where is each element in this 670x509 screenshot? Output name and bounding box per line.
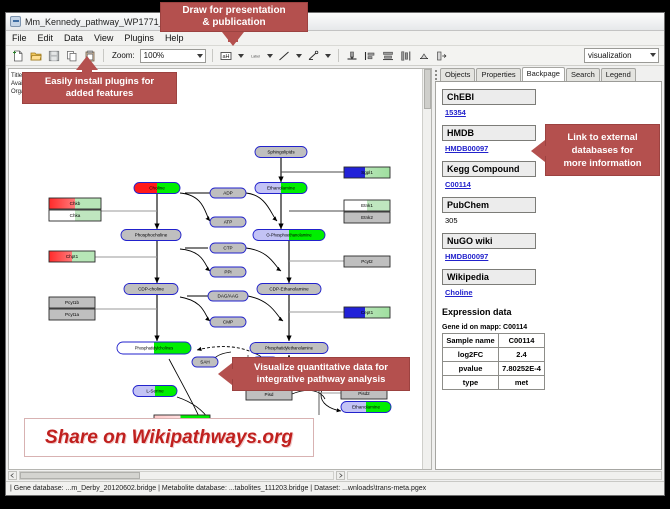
menu-item-plugins[interactable]: Plugins [123, 33, 155, 43]
callout-line: Visualize quantitative data for [254, 362, 388, 374]
callout-line: & publication [202, 17, 265, 29]
node-label: Cept1 [361, 310, 374, 315]
menu-bar: File Edit Data View Plugins Help [6, 31, 664, 46]
table-row: Sample name C00114 [443, 334, 545, 348]
gene-node-Chkb[interactable]: Chkb [49, 198, 101, 209]
data-node-icon[interactable]: aH [219, 48, 234, 63]
side-panel-tabs: Objects Properties Backpage Search Legen… [435, 68, 662, 82]
gene-node-Pcyt1a[interactable]: Pcyt1a [49, 309, 95, 320]
metabolite-node-CTP[interactable]: CTP [210, 243, 246, 253]
toolbar: Zoom: 100% aH Label [6, 46, 664, 66]
metabolite-node-Phosphocholine[interactable]: Phosphocholine [121, 230, 181, 241]
menu-item-file[interactable]: File [11, 33, 28, 43]
callout-external-links: Link to external databases for more info… [545, 124, 660, 176]
metabolite-node-DAG-AAG[interactable]: DAG/AAG [208, 291, 248, 301]
zoom-value: 100% [144, 51, 164, 60]
cell-key: Sample name [443, 334, 499, 348]
chevron-down-icon [650, 53, 656, 57]
cell-value: met [499, 376, 545, 390]
hscroll-left-button[interactable] [8, 471, 17, 480]
tab-drag-handle[interactable] [435, 69, 439, 81]
metabolite-node-Phosphatidylcholines[interactable]: Phosphatidylcholines [117, 342, 191, 354]
chevron-down-icon [325, 54, 331, 58]
node-label: CDP-Ethanolamine [269, 287, 309, 292]
toolbar-separator-2 [212, 49, 213, 62]
title-bar: Mm_Kennedy_pathway_WP1771_45176.gpml [6, 13, 664, 31]
pathway-canvas[interactable]: Title: Availa Organ [8, 68, 432, 470]
node-label: Pcyt2 [361, 259, 373, 264]
node-label: Sgpl1 [361, 170, 373, 175]
wikipedia-link[interactable]: Choline [445, 288, 473, 297]
node-label: Etnk2 [361, 215, 373, 220]
menu-item-data[interactable]: Data [63, 33, 84, 43]
menu-item-edit[interactable]: Edit [37, 33, 55, 43]
open-folder-icon[interactable] [28, 48, 43, 63]
line-icon[interactable] [277, 48, 292, 63]
pubchem-value: 305 [445, 216, 458, 225]
section-heading-chebi: ChEBI [442, 89, 536, 105]
gene-node-Etnk2[interactable]: Etnk2 [344, 212, 390, 223]
anchor-dropdown[interactable] [324, 49, 332, 62]
callout-draw-pointer-stem [228, 32, 238, 42]
gene-node-Chpt1[interactable]: Chpt1 [49, 251, 95, 262]
label-dropdown[interactable] [266, 49, 274, 62]
pathway-diagram[interactable]: SphingolipidsEthanolamineO-Phosphoethano… [9, 69, 432, 470]
stack-icon[interactable] [417, 48, 432, 63]
canvas-horizontal-scrollbar-row [6, 470, 664, 481]
callout-line: databases for [572, 144, 634, 157]
cell-key: type [443, 376, 499, 390]
label-icon[interactable]: Label [248, 48, 263, 63]
section-heading-pubchem: PubChem [442, 197, 536, 213]
node-label: Pcyt1a [65, 312, 79, 317]
save-icon[interactable] [46, 48, 61, 63]
toolbar-separator-3 [338, 49, 339, 62]
canvas-vscroll-thumb[interactable] [424, 69, 431, 109]
align-bottom-icon[interactable] [345, 48, 360, 63]
metabolite-node-CMP[interactable]: CMP [210, 317, 246, 327]
node-label: Choline [149, 186, 165, 191]
callout-share-wikipathways: Share on Wikipathways.org [24, 418, 314, 457]
gene-node-Pcyt2[interactable]: Pcyt2 [344, 256, 390, 267]
metabolite-node-Phosphatidylethanolamine[interactable]: Phosphatidylethanolamine [250, 343, 328, 354]
hscroll-track[interactable] [19, 471, 334, 480]
callout-draw-for-publication: Draw for presentation & publication [160, 2, 308, 32]
callout-line: integrative pathway analysis [257, 374, 386, 386]
node-label: Phosphatidylethanolamine [265, 346, 314, 351]
zoom-combo[interactable]: 100% [140, 49, 206, 63]
cell-key: log2FC [443, 348, 499, 362]
hscroll-right-button[interactable] [336, 471, 345, 480]
node-label: Chkb [70, 201, 81, 206]
node-label: ADP [223, 191, 232, 196]
chevron-down-icon [267, 54, 273, 58]
visualization-combo[interactable]: visualization [584, 48, 659, 63]
section-heading-wikipedia: Wikipedia [442, 269, 536, 285]
table-row: type met [443, 376, 545, 390]
distribute-vertical-icon[interactable] [381, 48, 396, 63]
expression-data-title: Expression data [442, 307, 661, 317]
gene-node-Etnk1[interactable]: Etnk1 [344, 200, 390, 211]
node-label: Ethanolamine [267, 186, 296, 191]
cell-value: 2.4 [499, 348, 545, 362]
gene-node-Sgpl1[interactable]: Sgpl1 [344, 167, 390, 178]
status-bar: | Gene database: ...m_Derby_20120602.bri… [6, 481, 664, 495]
cell-value: C00114 [499, 334, 545, 348]
section-heading-kegg: Kegg Compound [442, 161, 536, 177]
canvas-vertical-scrollbar[interactable] [422, 69, 431, 469]
cell-key: pvalue [443, 362, 499, 376]
callout-line: Easily install plugins for [45, 76, 154, 88]
zoom-label: Zoom: [112, 51, 135, 60]
callout-line: Draw for presentation [182, 5, 285, 17]
metabolite-node-Choline-top[interactable]: Choline [134, 183, 180, 194]
node-label: Chka [70, 213, 81, 218]
side-panel-hscroll-track[interactable] [347, 471, 662, 480]
node-label: PPi [224, 270, 231, 275]
callout-visualize-pointer-stem [226, 369, 236, 379]
callout-links-pointer-stem [539, 146, 549, 156]
cell-value: 7.80252E-4 [499, 362, 545, 376]
node-label: L-Serine [146, 389, 164, 394]
svg-text:Label: Label [251, 54, 260, 58]
node-label: DAG/AAG [218, 294, 239, 299]
chevron-down-icon [197, 54, 203, 58]
table-row: log2FC 2.4 [443, 348, 545, 362]
hmdb-link[interactable]: HMDB00097 [445, 144, 488, 153]
tab-objects[interactable]: Objects [440, 68, 475, 81]
metabolite-node-L-Serine-left[interactable]: L-Serine [133, 386, 177, 397]
gene-id-line: Gene id on mapp: C00114 [442, 324, 661, 331]
metabolite-node-Ethanolamine[interactable]: Ethanolamine [255, 183, 307, 194]
svg-text:aH: aH [223, 54, 230, 60]
tab-search[interactable]: Search [566, 68, 600, 81]
toolbar-separator-1 [103, 49, 104, 62]
share-text: Share on Wikipathways.org [45, 427, 293, 449]
metabolite-node-O-Phosphoethanolamine[interactable]: O-Phosphoethanolamine [253, 230, 325, 241]
node-label: Sphingolipids [267, 150, 295, 155]
metabolite-node-Ethanolamine-lower[interactable]: Ethanolamine [341, 402, 391, 413]
node-label: Phosphatidylcholines [135, 346, 173, 351]
tab-properties[interactable]: Properties [476, 68, 520, 81]
callout-visualize-data: Visualize quantitative data for integrat… [232, 357, 410, 391]
nugo-link[interactable]: HMDB00097 [445, 252, 488, 261]
app-icon [10, 16, 21, 27]
section-heading-nugo: NuGO wiki [442, 233, 536, 249]
node-label: SAH [200, 360, 209, 365]
gene-node-Cept1[interactable]: Cept1 [344, 307, 390, 318]
section-heading-hmdb: HMDB [442, 125, 536, 141]
new-file-icon[interactable] [10, 48, 25, 63]
callout-line: Link to external [567, 131, 637, 144]
distribute-horizontal-icon[interactable] [399, 48, 414, 63]
expression-table: Sample name C00114 log2FC 2.4 pvalue 7.8… [442, 333, 545, 390]
node-label: CTP [223, 246, 232, 251]
metabolite-node-PPi[interactable]: PPi [210, 267, 246, 277]
align-left-icon[interactable] [363, 48, 378, 63]
chevron-down-icon [238, 54, 244, 58]
data-node-dropdown[interactable] [237, 49, 245, 62]
visualization-combo-wrapper: visualization [584, 48, 659, 63]
node-label: Etnk1 [361, 203, 373, 208]
node-label: Pcyt1b [65, 300, 79, 305]
node-label: Phosphocholine [135, 233, 168, 238]
tab-legend[interactable]: Legend [601, 68, 636, 81]
node-label: CMP [223, 320, 233, 325]
metabolite-node-Sphingolipids[interactable]: Sphingolipids [255, 147, 307, 158]
node-label: CDP-choline [138, 287, 164, 292]
order-icon[interactable] [435, 48, 450, 63]
callout-line: more information [563, 157, 641, 170]
visualization-value: visualization [588, 51, 632, 60]
node-label: Chpt1 [66, 254, 79, 259]
callout-line: added features [66, 88, 134, 100]
gene-node-Chka[interactable]: Chka [49, 210, 101, 221]
hscroll-thumb[interactable] [20, 472, 140, 479]
chebi-link[interactable]: 15354 [445, 108, 466, 117]
status-text: | Gene database: ...m_Derby_20120602.bri… [10, 485, 426, 492]
metabolite-node-ADP[interactable]: ADP [210, 188, 246, 198]
metabolite-node-ATP[interactable]: ATP [210, 217, 246, 227]
line-dropdown[interactable] [295, 49, 303, 62]
metabolite-node-CDP-choline[interactable]: CDP-choline [124, 284, 178, 295]
menu-item-help[interactable]: Help [164, 33, 185, 43]
menu-item-view[interactable]: View [93, 33, 114, 43]
callout-plugins-pointer-stem [82, 64, 92, 74]
metabolite-node-CDP-Ethanolamine[interactable]: CDP-Ethanolamine [257, 284, 321, 295]
chevron-down-icon [296, 54, 302, 58]
node-label: O-Phosphoethanolamine [266, 233, 312, 238]
pathway-node-layer: SphingolipidsEthanolamineO-Phosphoethano… [49, 147, 391, 453]
node-label: ATP [224, 220, 233, 225]
node-label: Pisd2 [358, 391, 370, 396]
kegg-link[interactable]: C00114 [445, 180, 471, 189]
anchor-icon[interactable] [306, 48, 321, 63]
callout-install-plugins: Easily install plugins for added feature… [22, 72, 177, 104]
node-label: Pisd [265, 392, 274, 397]
gene-node-Pcyt1b[interactable]: Pcyt1b [49, 297, 95, 308]
tab-backpage[interactable]: Backpage [522, 67, 565, 81]
node-label: Ethanolamine [352, 405, 381, 410]
table-row: pvalue 7.80252E-4 [443, 362, 545, 376]
metabolite-node-SAH[interactable]: SAH [192, 357, 218, 367]
